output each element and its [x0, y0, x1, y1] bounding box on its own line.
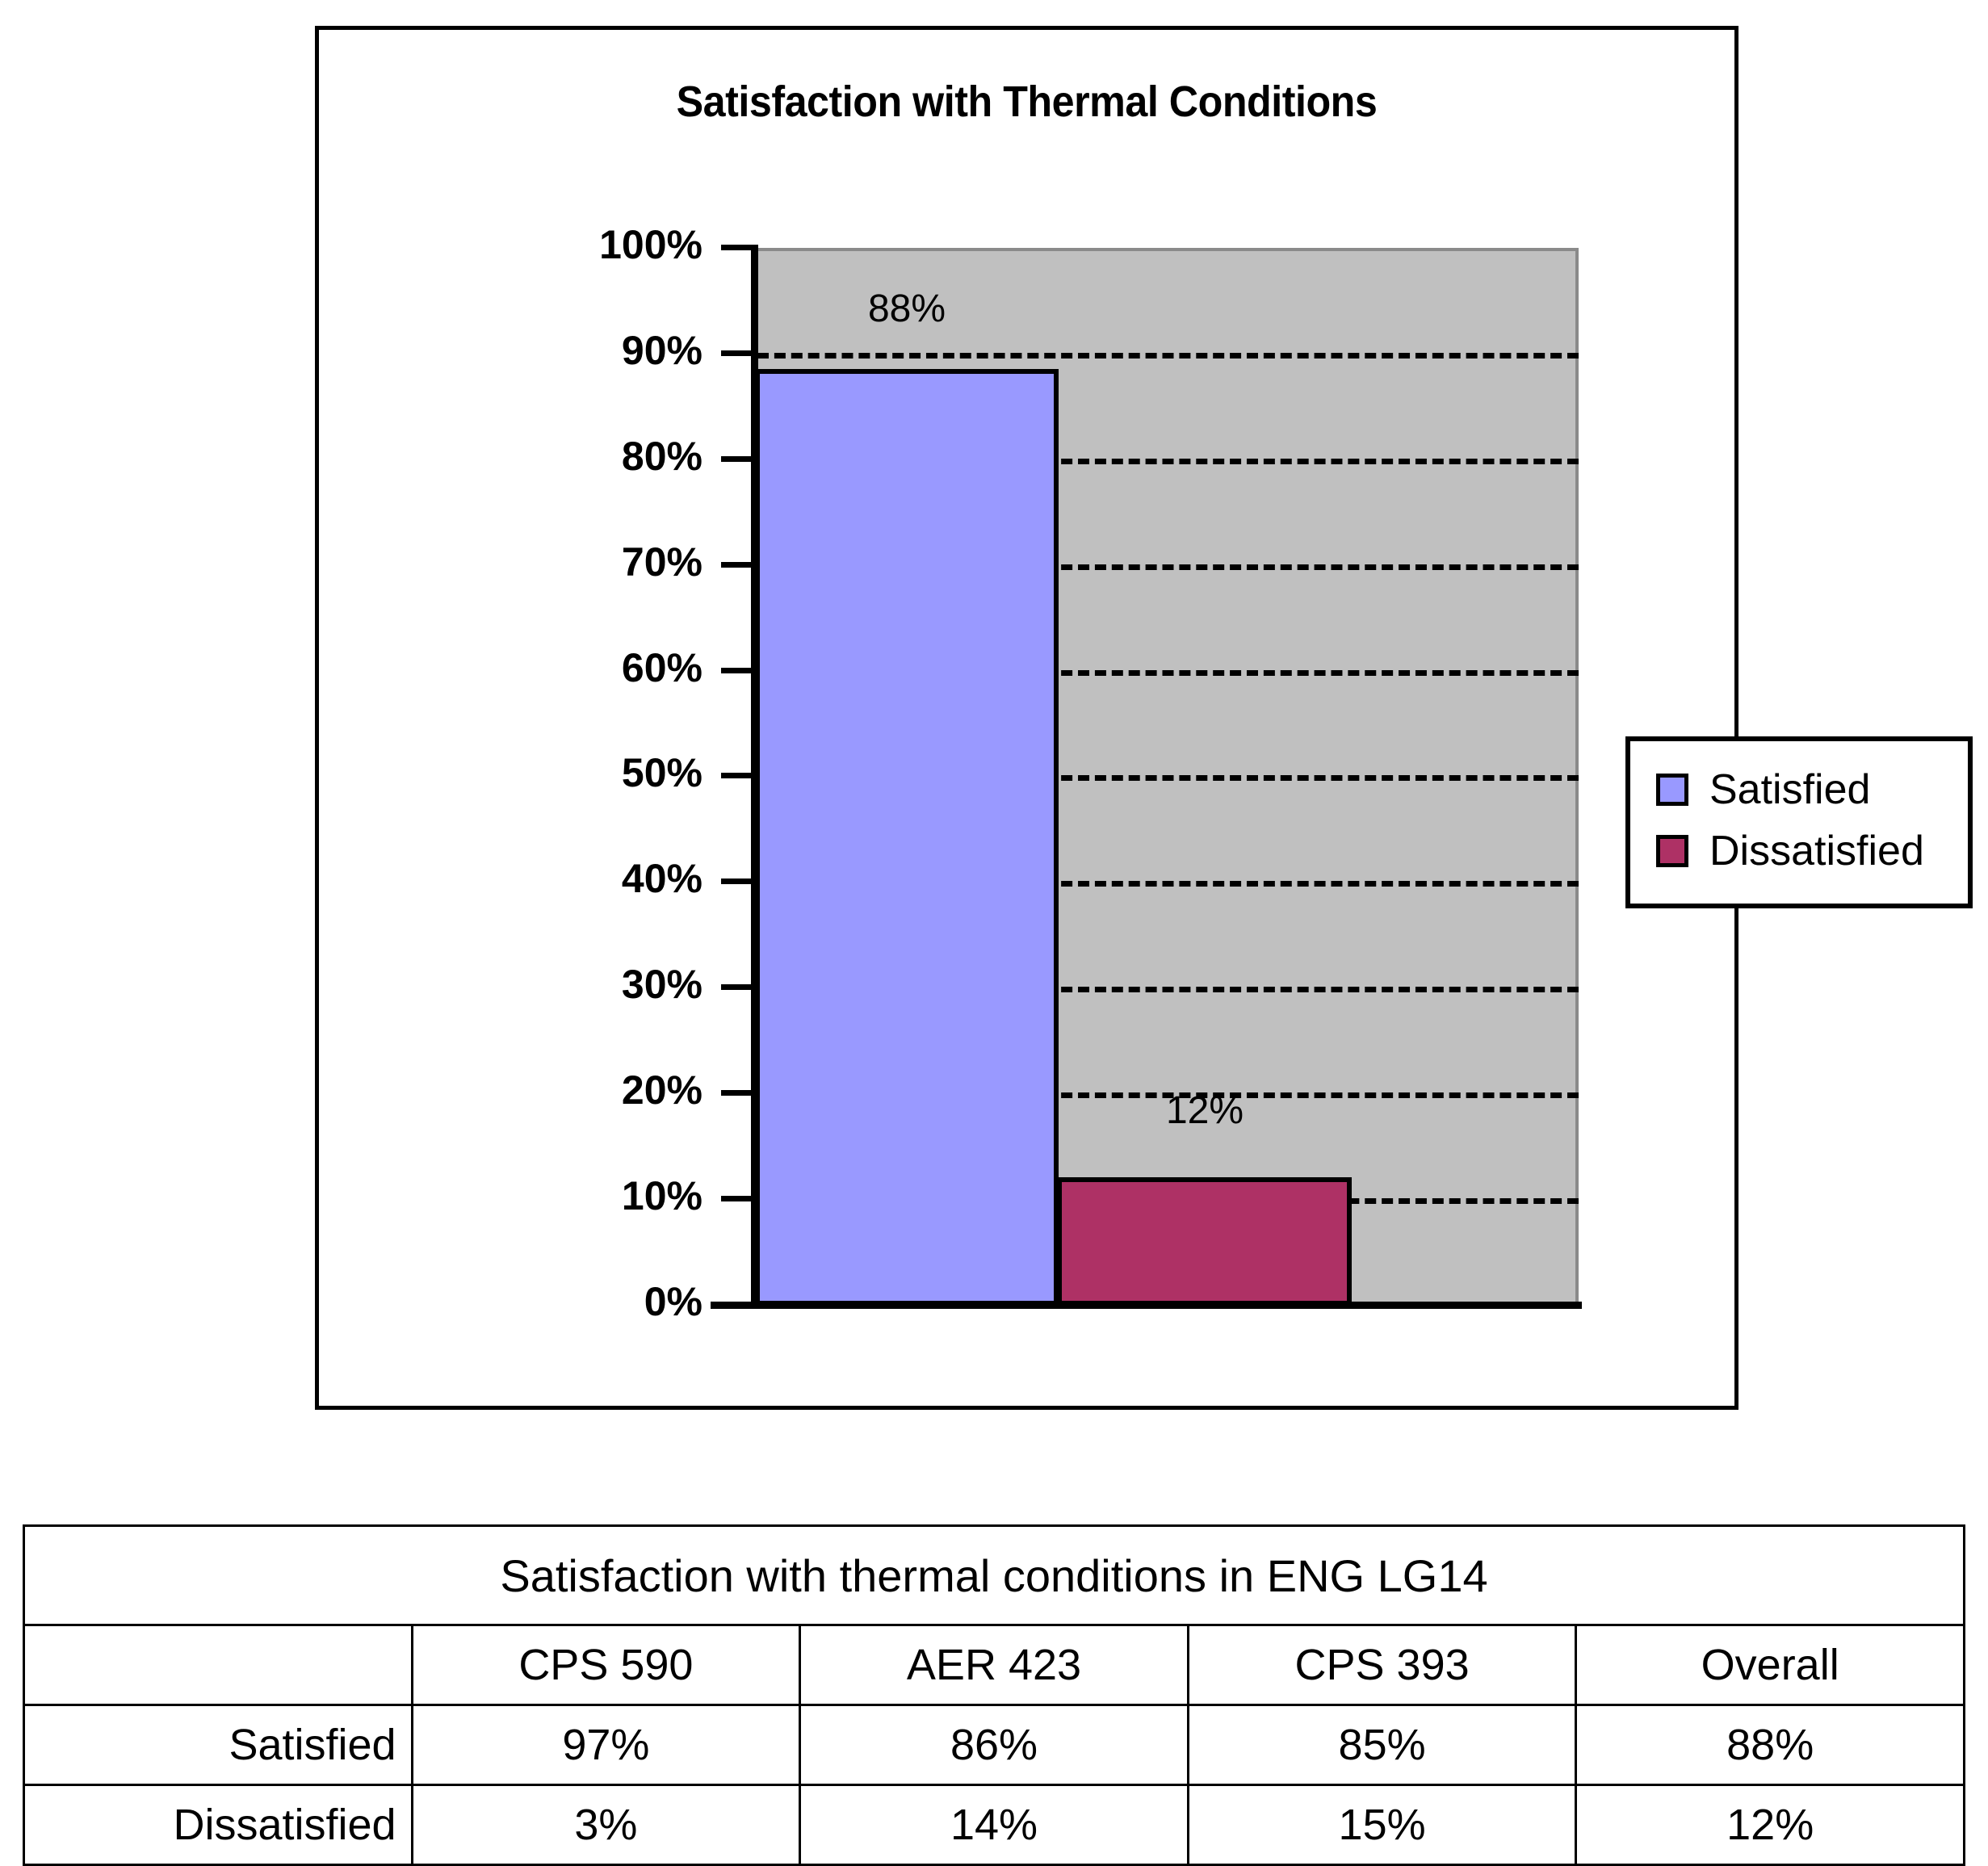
tick-30	[721, 984, 752, 990]
row-label-dissatisfied: Dissatisfied	[24, 1785, 413, 1865]
table-header-blank	[24, 1625, 413, 1705]
cell-dissatisfied-cps590: 3%	[412, 1785, 800, 1865]
legend-swatch-satisfied	[1656, 774, 1688, 806]
tick-0	[721, 1302, 752, 1307]
tick-90	[721, 350, 752, 356]
y-axis-label-50: 50%	[460, 753, 703, 793]
y-axis-label-10: 10%	[460, 1176, 703, 1216]
tick-80	[721, 456, 752, 462]
legend-item-satisfied[interactable]: Satisfied	[1656, 759, 1968, 820]
legend-label-dissatisfied: Dissatisfied	[1709, 827, 1924, 875]
table-header-overall: Overall	[1576, 1625, 1965, 1705]
y-axis-label-90: 90%	[460, 330, 703, 371]
table-header-cps590: CPS 590	[412, 1625, 800, 1705]
bar-label-satisfied: 88%	[826, 287, 988, 331]
cell-satisfied-aer423: 86%	[800, 1705, 1189, 1785]
table-row: Dissatisfied 3% 14% 15% 12%	[24, 1785, 1965, 1865]
legend-item-dissatisfied[interactable]: Dissatisfied	[1656, 820, 1968, 882]
cell-dissatisfied-cps393: 15%	[1188, 1785, 1576, 1865]
tick-50	[721, 773, 752, 778]
y-axis-label-60: 60%	[460, 648, 703, 688]
legend-swatch-dissatisfied	[1656, 835, 1688, 867]
legend-label-satisfied: Satisfied	[1709, 765, 1870, 814]
chart-legend: Satisfied Dissatisfied	[1625, 736, 1973, 908]
tick-40	[721, 878, 752, 884]
table-row: Satisfied 97% 86% 85% 88%	[24, 1705, 1965, 1785]
tick-10	[721, 1196, 752, 1201]
y-axis-label-40: 40%	[460, 858, 703, 899]
cell-satisfied-overall: 88%	[1576, 1705, 1965, 1785]
y-axis-label-80: 80%	[460, 436, 703, 476]
table-header-row: CPS 590 AER 423 CPS 393 Overall	[24, 1625, 1965, 1705]
bar-dissatisfied	[1057, 1177, 1352, 1306]
cell-dissatisfied-overall: 12%	[1576, 1785, 1965, 1865]
table-header-cps393: CPS 393	[1188, 1625, 1576, 1705]
table-title-row: Satisfaction with thermal conditions in …	[24, 1526, 1965, 1625]
bar-label-dissatisfied: 12%	[1124, 1088, 1285, 1133]
tick-60	[721, 668, 752, 673]
data-table: Satisfaction with thermal conditions in …	[23, 1524, 1965, 1866]
cell-satisfied-cps590: 97%	[412, 1705, 800, 1785]
y-axis-label-20: 20%	[460, 1070, 703, 1110]
y-axis-label-100: 100%	[460, 224, 703, 265]
gridline-90	[757, 353, 1579, 359]
table-title: Satisfaction with thermal conditions in …	[24, 1526, 1965, 1625]
table-header-aer423: AER 423	[800, 1625, 1189, 1705]
y-axis-labels: 100% 90% 80% 70% 60% 50% 40% 30% 20% 10%…	[452, 0, 703, 1373]
bar-satisfied	[755, 369, 1059, 1306]
row-label-satisfied: Satisfied	[24, 1705, 413, 1785]
tick-100	[721, 245, 752, 250]
y-axis-label-30: 30%	[460, 964, 703, 1004]
tick-20	[721, 1090, 752, 1096]
tick-70	[721, 562, 752, 568]
x-axis-baseline	[711, 1302, 1582, 1309]
y-axis-label-0: 0%	[460, 1281, 703, 1322]
cell-dissatisfied-aer423: 14%	[800, 1785, 1189, 1865]
cell-satisfied-cps393: 85%	[1188, 1705, 1576, 1785]
y-axis-line	[751, 245, 758, 1307]
y-axis-label-70: 70%	[460, 542, 703, 582]
